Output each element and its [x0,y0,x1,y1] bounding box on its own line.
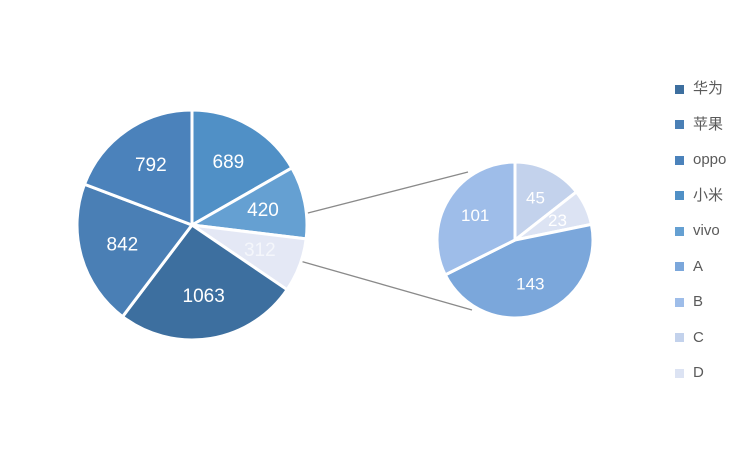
legend-item[interactable]: vivo [675,222,720,240]
legend-item-label: A [693,258,703,276]
legend-item-label: 小米 [693,187,723,205]
legend-swatch-icon [675,298,684,307]
legend-item[interactable]: 小米 [675,187,723,205]
legend-item[interactable]: D [675,364,704,382]
legend-swatch-icon [675,85,684,94]
legend-item[interactable]: oppo [675,151,726,169]
legend-item-label: D [693,364,704,382]
legend-swatch-icon [675,156,684,165]
legend-item[interactable]: 苹果 [675,116,723,134]
legend-item[interactable]: 华为 [675,80,723,98]
main-pie [77,110,307,340]
pie-of-pie-chart: 6894203121063842792 4523143101 [0,0,750,460]
legend-swatch-icon [675,120,684,129]
legend-item-label: vivo [693,222,720,240]
secondary-pie [437,162,593,318]
legend-swatch-icon [675,191,684,200]
legend-swatch-icon [675,262,684,271]
legend-item[interactable]: A [675,258,703,276]
legend-item-label: 华为 [693,80,723,98]
legend-item-label: 苹果 [693,116,723,134]
legend-item[interactable]: B [675,293,703,311]
legend-swatch-icon [675,227,684,236]
legend-item-label: B [693,293,703,311]
legend-item[interactable]: C [675,329,704,347]
chart-container: 6894203121063842792 4523143101 华为苹果oppo小… [0,0,750,460]
legend-swatch-icon [675,369,684,378]
legend-item-label: C [693,329,704,347]
legend-swatch-icon [675,333,684,342]
legend-item-label: oppo [693,151,726,169]
